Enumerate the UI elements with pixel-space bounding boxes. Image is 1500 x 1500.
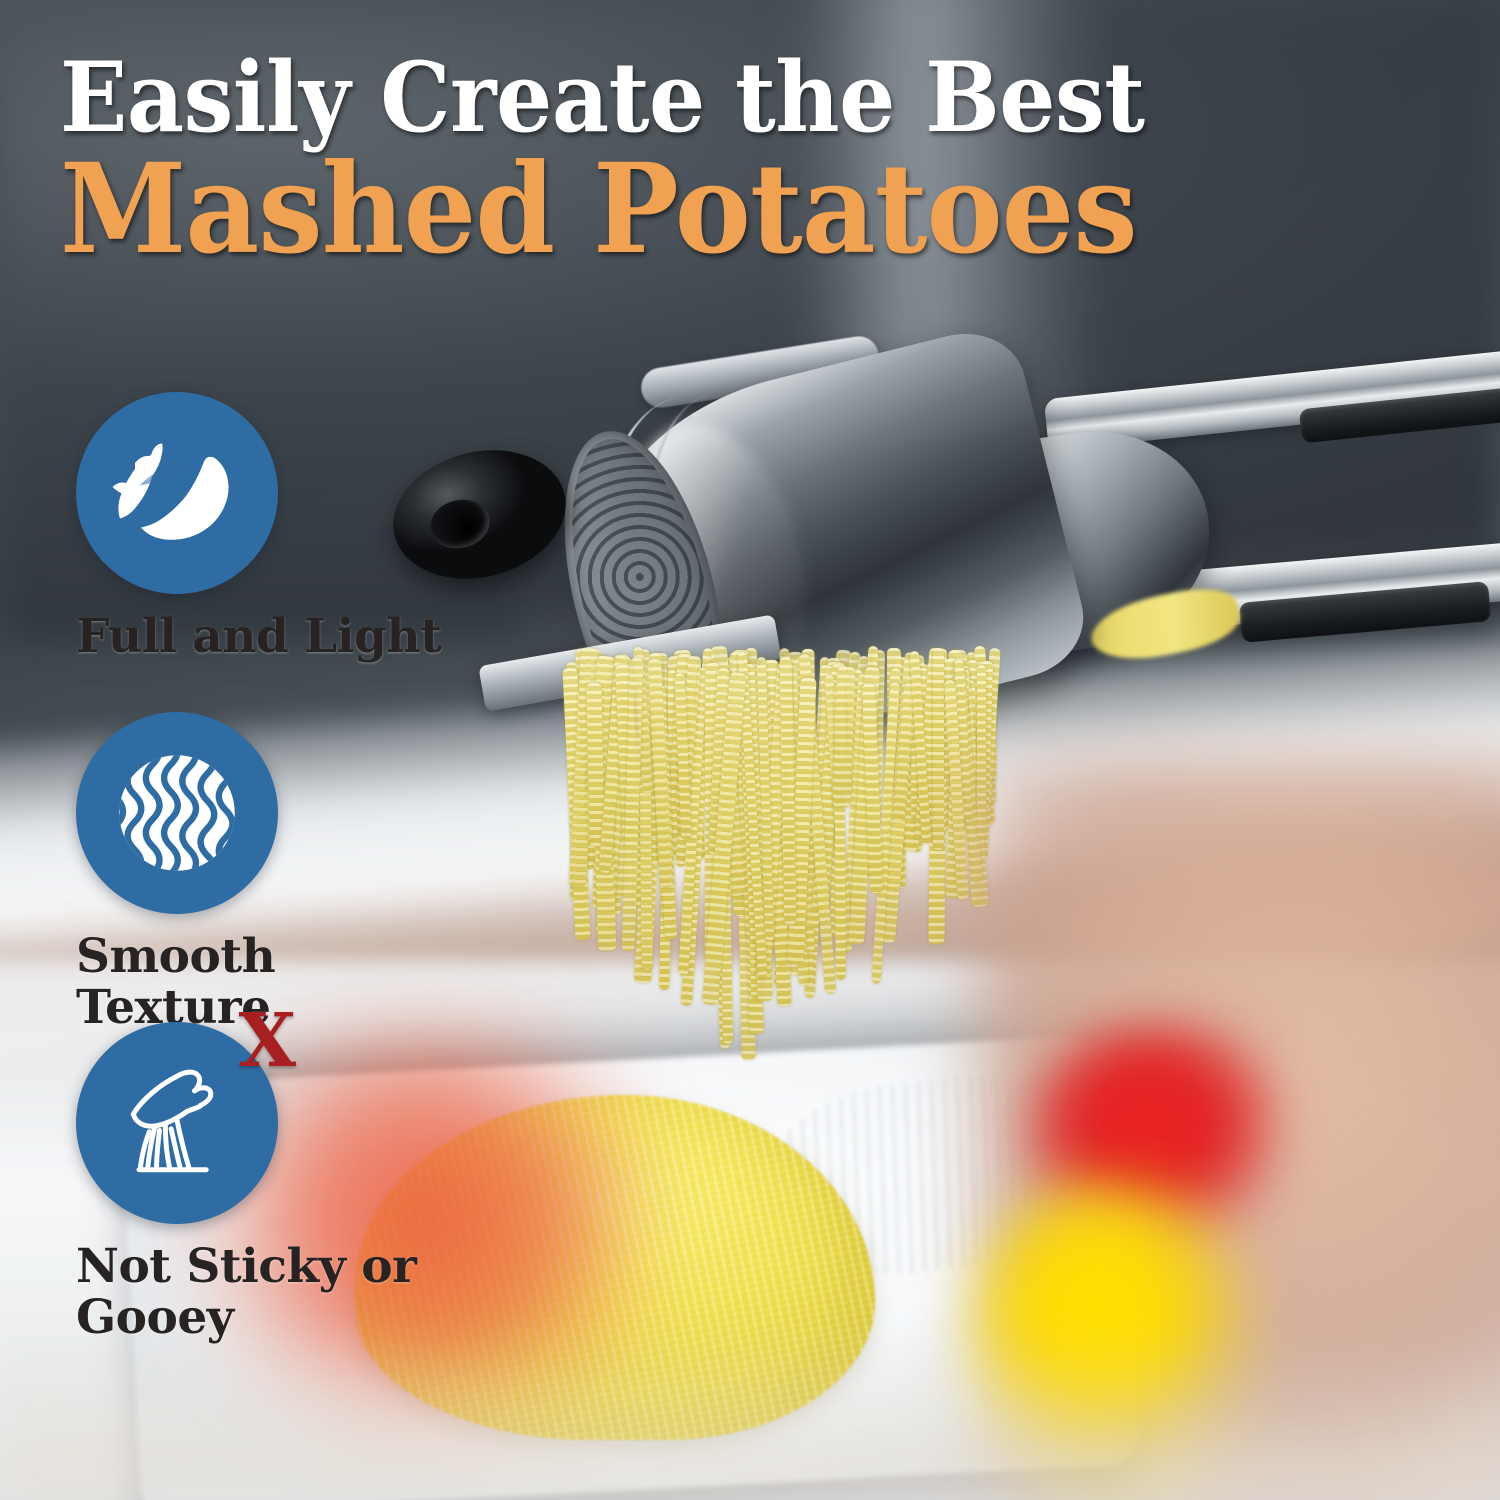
feature-label-3: Not Sticky or Gooey	[76, 1242, 476, 1344]
feature-smooth-texture: Smooth Texture	[0, 712, 470, 1034]
x-mark-icon: X	[239, 1004, 296, 1078]
feature-full-and-light: Full and Light	[0, 392, 470, 663]
potato-strand	[977, 665, 987, 838]
sticky-hand-icon	[104, 1050, 250, 1196]
extruded-potato-strands	[566, 586, 1006, 1056]
feature-not-sticky-or-gooey: X Not Sticky or Gooey	[0, 1022, 470, 1344]
feature-badge-3: X	[76, 1022, 278, 1224]
feature-label-1: Full and Light	[76, 612, 476, 663]
headline-line-2: Mashed Potatoes	[60, 150, 1219, 269]
potato-strand	[933, 648, 944, 850]
feather-icon	[102, 418, 252, 568]
headline: Easily Create the Best Mashed Potatoes	[60, 52, 1320, 269]
product-marketing-image: Easily Create the Best Mashed Potatoes F…	[0, 0, 1500, 1500]
wavy-texture-icon	[101, 737, 253, 889]
feature-badge-2	[76, 712, 278, 914]
feature-badge-1	[76, 392, 278, 594]
headline-line-1: Easily Create the Best	[60, 52, 1219, 144]
